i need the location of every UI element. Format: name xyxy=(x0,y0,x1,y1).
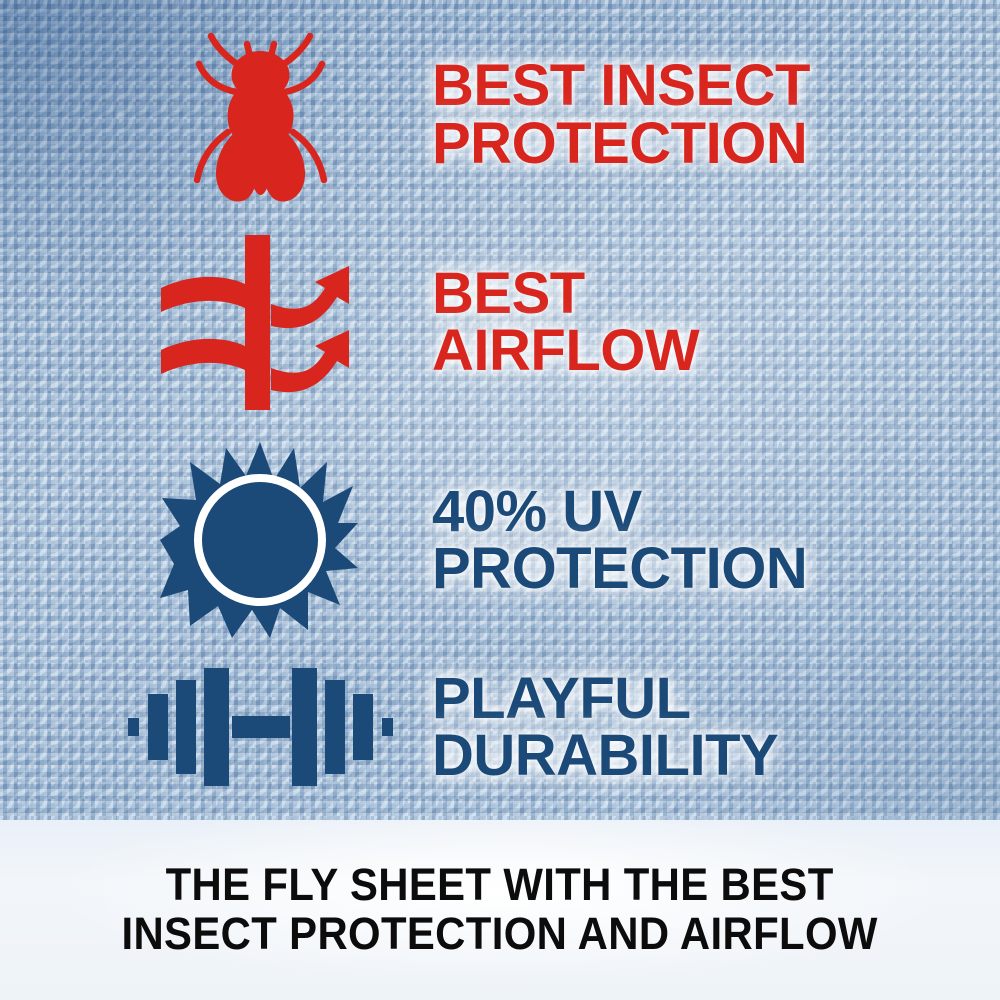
feature-icon-cell xyxy=(110,662,410,792)
feature-list: BEST INSECT PROTECTION BEST AIRFLOW xyxy=(0,0,1000,820)
fly-icon xyxy=(173,20,348,210)
feature-text-cell: PLAYFUL DURABILITY xyxy=(410,670,930,785)
sun-uv-icon xyxy=(160,440,360,640)
caption-text: THE FLY SHEET WITH THE BEST INSECT PROTE… xyxy=(122,861,878,958)
feature-icon-cell xyxy=(110,20,410,210)
feature-text-cell: BEST AIRFLOW xyxy=(410,265,930,380)
feature-label: PLAYFUL DURABILITY xyxy=(432,670,930,785)
airflow-icon xyxy=(153,230,368,415)
feature-icon-cell xyxy=(110,440,410,640)
feature-row: 40% UV PROTECTION xyxy=(110,436,930,644)
product-feature-infographic: BEST INSECT PROTECTION BEST AIRFLOW xyxy=(0,0,1000,1000)
feature-label: BEST AIRFLOW xyxy=(432,265,930,380)
feature-text-cell: BEST INSECT PROTECTION xyxy=(410,57,930,172)
feature-row: PLAYFUL DURABILITY xyxy=(110,642,930,812)
dumbbell-icon xyxy=(128,662,393,792)
feature-row: BEST INSECT PROTECTION xyxy=(110,12,930,217)
feature-row: BEST AIRFLOW xyxy=(110,222,930,422)
feature-label: 40% UV PROTECTION xyxy=(432,483,930,598)
feature-icon-cell xyxy=(110,230,410,415)
caption-bar: THE FLY SHEET WITH THE BEST INSECT PROTE… xyxy=(0,820,1000,1000)
feature-text-cell: 40% UV PROTECTION xyxy=(410,483,930,598)
feature-label: BEST INSECT PROTECTION xyxy=(432,57,930,172)
